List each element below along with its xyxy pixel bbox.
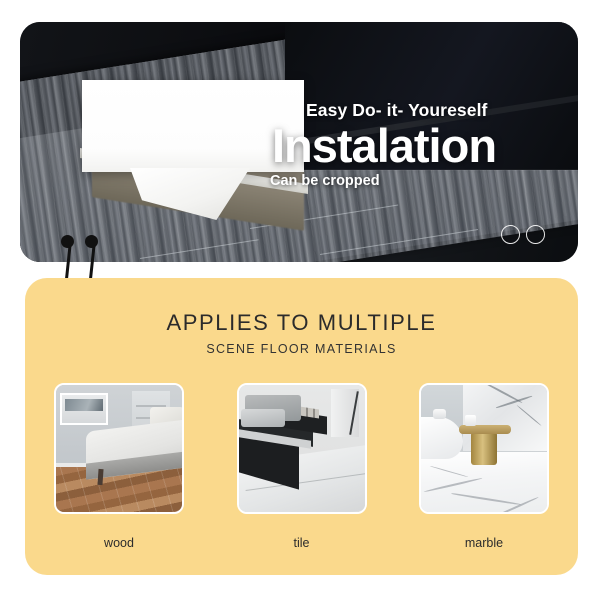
- brass-table-base: [471, 433, 497, 465]
- panel-heading: APPLIES TO MULTIPLE: [25, 310, 578, 336]
- materials-grid: wood tile: [55, 383, 548, 550]
- material-caption: marble: [465, 536, 503, 550]
- hero-subline: Can be cropped: [270, 173, 564, 189]
- material-thumbnail-wood[interactable]: [54, 383, 184, 514]
- material-thumbnail-tile[interactable]: [237, 383, 367, 514]
- hero-kicker: Easy Do- it- Youreself: [306, 100, 564, 121]
- hero-text-block: Easy Do- it- Youreself Instalation Can b…: [264, 100, 564, 189]
- product-listing-image: Easy Do- it- Youreself Instalation Can b…: [0, 0, 600, 600]
- material-cell-tile[interactable]: tile: [238, 383, 366, 550]
- carousel-pagination[interactable]: [501, 225, 545, 244]
- clip-knob-top-1: [61, 235, 74, 248]
- brass-table-top: [459, 425, 511, 434]
- hero-headline: Instalation: [272, 123, 564, 169]
- cup: [465, 415, 476, 426]
- clip-knob-top-2: [85, 235, 98, 248]
- pagination-dot-1[interactable]: [501, 225, 520, 244]
- panel-subheading: SCENE FLOOR MATERIALS: [25, 342, 578, 356]
- materials-panel: APPLIES TO MULTIPLE SCENE FLOOR MATERIAL…: [25, 278, 578, 575]
- material-cell-marble[interactable]: marble: [420, 383, 548, 550]
- window-icon: [60, 393, 108, 425]
- material-cell-wood[interactable]: wood: [55, 383, 183, 550]
- pagination-dot-2[interactable]: [526, 225, 545, 244]
- material-thumbnail-marble[interactable]: [419, 383, 549, 514]
- tub-accessory: [433, 409, 446, 419]
- hero-banner: Easy Do- it- Youreself Instalation Can b…: [20, 22, 578, 262]
- material-caption: tile: [294, 536, 310, 550]
- material-caption: wood: [104, 536, 134, 550]
- sofa-seat: [241, 409, 285, 427]
